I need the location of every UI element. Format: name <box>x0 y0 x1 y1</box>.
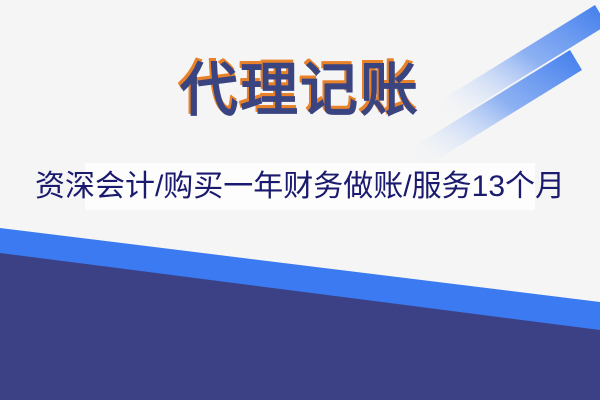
promo-banner: 代理记账 资深会计/购买一年财务做账/服务13个月 <box>0 0 600 400</box>
subtitle-container: 资深会计/购买一年财务做账/服务13个月 <box>0 168 600 206</box>
title-container: 代理记账 <box>0 62 600 120</box>
banner-title: 代理记账 <box>180 62 420 120</box>
bottom-shapes-decoration <box>0 220 600 400</box>
blue-diagonal-band-icon <box>0 228 600 400</box>
navy-panel-icon <box>0 253 600 400</box>
banner-subtitle: 资深会计/购买一年财务做账/服务13个月 <box>35 168 565 206</box>
